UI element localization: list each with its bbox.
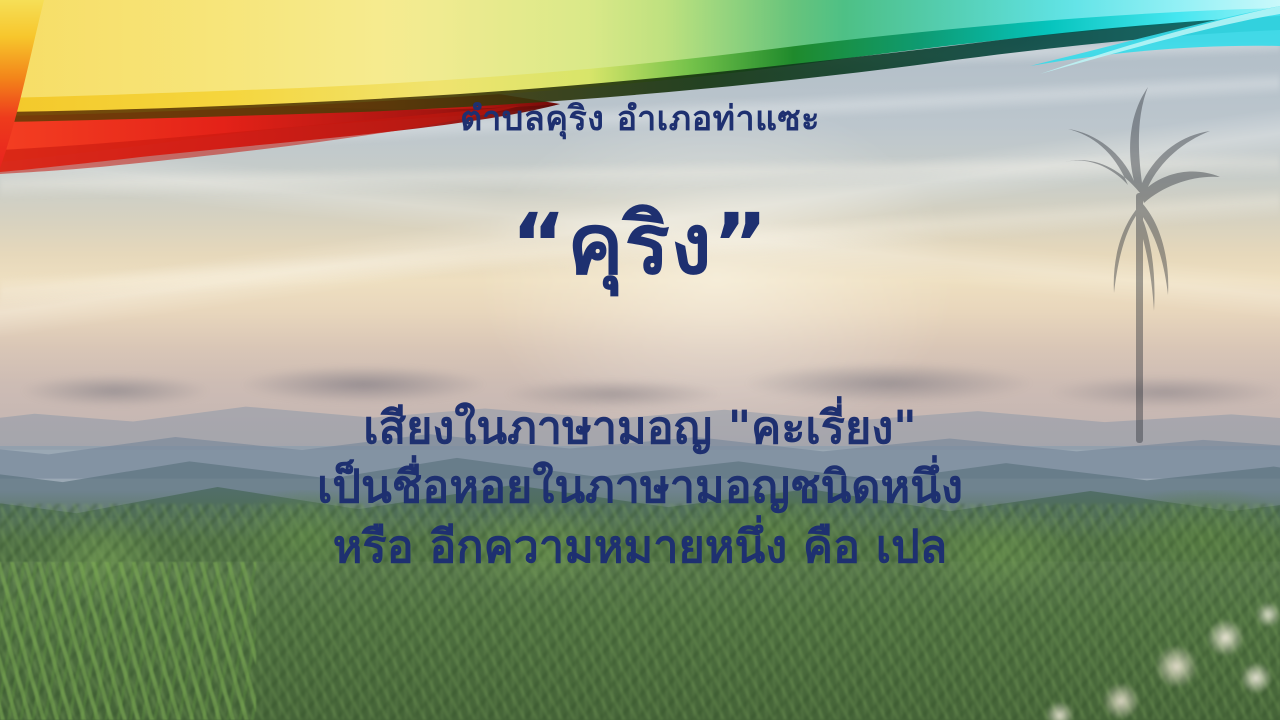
description-line-2: เป็นชื่อหอยในภาษามอญชนิดหนึ่ง [0,457,1280,516]
description-line-3: หรือ อีกความหมายหนึ่ง คือ เปล [0,517,1280,576]
page-title: “คุริง” [0,196,1280,293]
description-block: เสียงในภาษามอญ "คะเรี่ยง" เป็นชื่อหอยในภ… [0,398,1280,576]
slide-canvas: ตำบลคุริง อำเภอท่าแซะ “คุริง” เสียงในภาษ… [0,0,1280,720]
subdistrict-subtitle: ตำบลคุริง อำเภอท่าแซะ [0,98,1280,141]
description-line-1: เสียงในภาษามอญ "คะเรี่ยง" [0,398,1280,457]
text-layer: ตำบลคุริง อำเภอท่าแซะ “คุริง” เสียงในภาษ… [0,0,1280,720]
